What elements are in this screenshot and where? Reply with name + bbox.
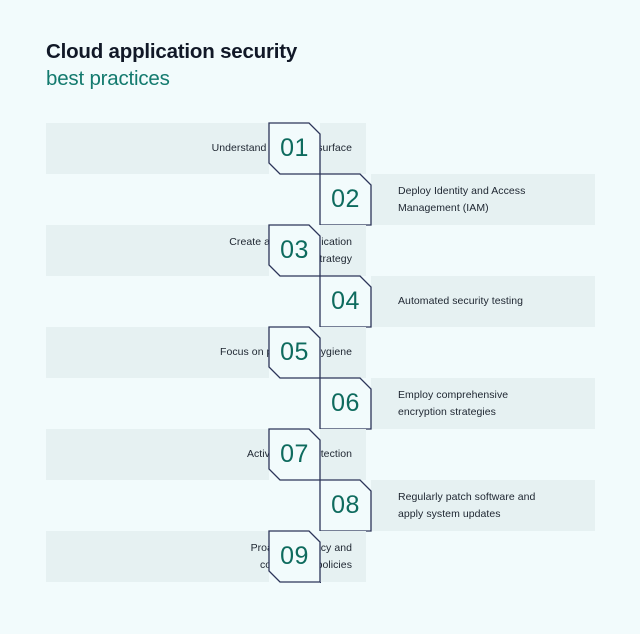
infographic-root: Cloud application security best practice… — [0, 0, 640, 634]
step-number-box: 08 — [320, 480, 371, 531]
step-number-box: 02 — [320, 174, 371, 225]
step-row[interactable]: Deploy Identity and AccessManagement (IA… — [0, 174, 640, 225]
step-number-box: 03 — [269, 225, 320, 276]
step-label-line: Management (IAM) — [398, 200, 489, 217]
step-number: 02 — [320, 174, 371, 225]
step-label: Deploy Identity and AccessManagement (IA… — [398, 174, 582, 225]
step-number-box: 01 — [269, 123, 320, 174]
step-row[interactable]: Active threat detection07 — [0, 429, 640, 480]
page-title: Cloud application security best practice… — [46, 38, 566, 92]
steps-list: Understand the threat surface01Deploy Id… — [0, 123, 640, 582]
step-label-line: Automated security testing — [398, 293, 523, 310]
step-label: Automated security testing — [398, 276, 582, 327]
step-label: Employ comprehensiveencryption strategie… — [398, 378, 582, 429]
step-row[interactable]: Create a cloud applicationsecurity strat… — [0, 225, 640, 276]
step-label-line: apply system updates — [398, 506, 501, 523]
step-number: 03 — [269, 225, 320, 276]
step-number-box: 09 — [269, 531, 320, 582]
step-number-box: 04 — [320, 276, 371, 327]
title-line-primary: Cloud application security — [46, 38, 566, 65]
step-label-line: Deploy Identity and Access — [398, 183, 525, 200]
step-number-box: 05 — [269, 327, 320, 378]
step-label-line: Employ comprehensive — [398, 387, 508, 404]
step-label-line: Regularly patch software and — [398, 489, 535, 506]
step-number: 05 — [269, 327, 320, 378]
step-number-box: 06 — [320, 378, 371, 429]
title-line-accent: best practices — [46, 65, 566, 92]
step-number: 01 — [269, 123, 320, 174]
step-number: 08 — [320, 480, 371, 531]
step-label-line: encryption strategies — [398, 404, 496, 421]
step-number: 04 — [320, 276, 371, 327]
step-number: 09 — [269, 531, 320, 582]
step-label: Regularly patch software andapply system… — [398, 480, 582, 531]
step-number: 06 — [320, 378, 371, 429]
step-number: 07 — [269, 429, 320, 480]
step-number-box: 07 — [269, 429, 320, 480]
step-row[interactable]: Proactive privacy andcompliance policies… — [0, 531, 640, 582]
step-row[interactable]: Employ comprehensiveencryption strategie… — [0, 378, 640, 429]
step-row[interactable]: Understand the threat surface01 — [0, 123, 640, 174]
step-row[interactable]: Automated security testing04 — [0, 276, 640, 327]
step-row[interactable]: Focus on password hygiene05 — [0, 327, 640, 378]
step-row[interactable]: Regularly patch software andapply system… — [0, 480, 640, 531]
